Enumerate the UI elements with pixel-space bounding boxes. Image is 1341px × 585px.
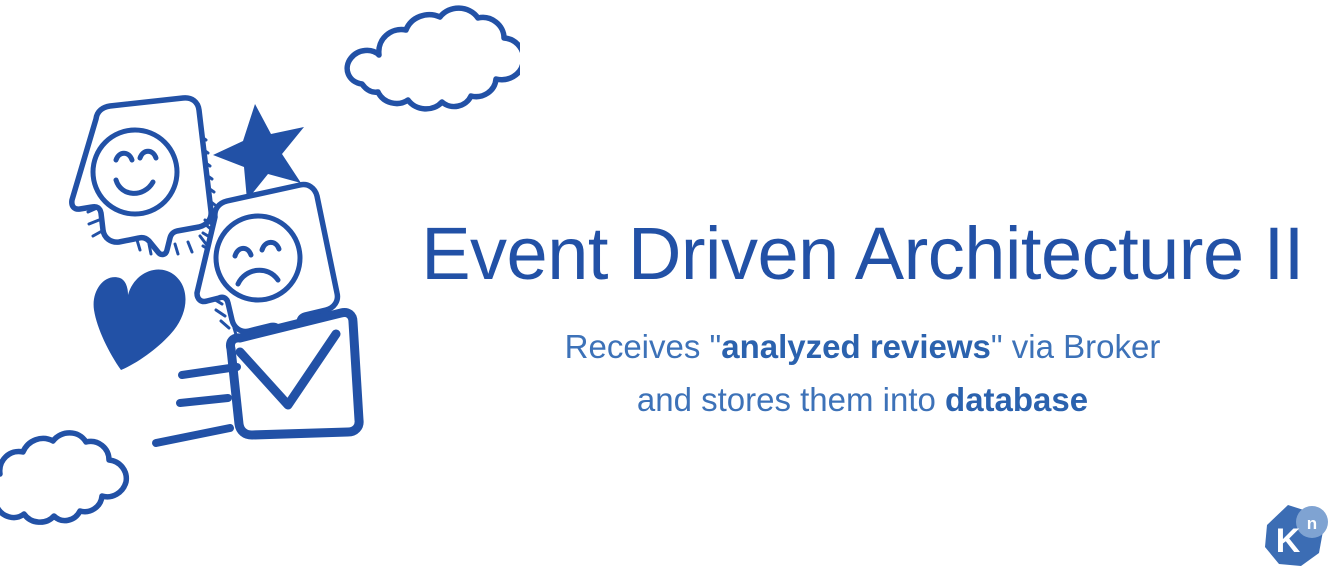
- subtitle-emphasis-analyzed-reviews: analyzed reviews: [721, 328, 991, 365]
- subtitle-emphasis-database: database: [945, 381, 1088, 418]
- subtitle-line-1: Receives "analyzed reviews" via Broker: [400, 321, 1325, 373]
- subtitle-line-2: and stores them into database: [400, 374, 1325, 426]
- page-subtitle: Receives "analyzed reviews" via Broker a…: [400, 321, 1325, 425]
- subtitle-line-2-prefix: and stores them into: [637, 381, 945, 418]
- cloud-top-icon: [347, 8, 520, 109]
- speech-bubble-sad-icon: [197, 185, 337, 341]
- subtitle-line-1-prefix: Receives ": [565, 328, 722, 365]
- subtitle-line-1-suffix: " via Broker: [991, 328, 1160, 365]
- logo-letter-k: K: [1276, 522, 1301, 560]
- text-block: Event Driven Architecture II Receives "a…: [400, 215, 1325, 426]
- slide-canvas: Event Driven Architecture II Receives "a…: [0, 0, 1341, 585]
- kn-logo: K n: [1252, 500, 1332, 580]
- heart-icon: [94, 270, 186, 370]
- envelope-icon: [230, 312, 359, 435]
- speech-bubble-happy-icon: [72, 98, 215, 255]
- speed-lines-icon: [156, 367, 237, 443]
- cloud-bottom-icon: [0, 433, 126, 522]
- page-title: Event Driven Architecture II: [400, 215, 1325, 293]
- logo-letter-n: n: [1307, 514, 1317, 533]
- star-icon: [213, 104, 304, 200]
